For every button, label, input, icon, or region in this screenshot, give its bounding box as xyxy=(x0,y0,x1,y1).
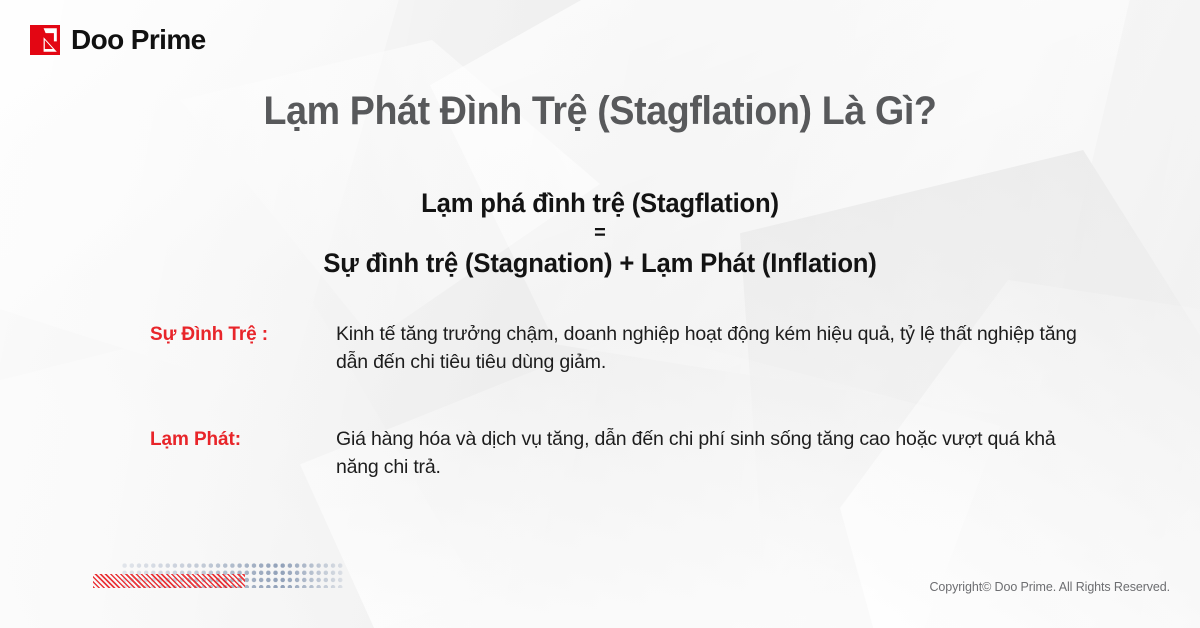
slide-canvas: Doo Prime Lạm Phát Đình Trệ (Stagflation… xyxy=(0,0,1200,628)
red-hatch-bar-decoration xyxy=(93,574,245,588)
definition-label: Lạm Phát: xyxy=(150,425,336,454)
definition-text: Kinh tế tăng trưởng chậm, doanh nghiệp h… xyxy=(336,320,1096,377)
page-title: Lạm Phát Đình Trệ (Stagflation) Là Gì? xyxy=(36,88,1164,134)
list-item: Lạm Phát: Giá hàng hóa và dịch vụ tăng, … xyxy=(150,425,1110,482)
definition-list: Sự Đình Trệ : Kinh tế tăng trưởng chậm, … xyxy=(150,320,1110,529)
definition-label: Sự Đình Trệ : xyxy=(150,320,336,349)
footer-copyright: Copyright© Doo Prime. All Rights Reserve… xyxy=(929,580,1170,594)
definition-text: Giá hàng hóa và dịch vụ tăng, dẫn đến ch… xyxy=(336,425,1096,482)
brand-wordmark: Doo Prime xyxy=(71,26,206,54)
doo-prime-square-arrow-icon xyxy=(30,25,60,55)
brand-logo[interactable]: Doo Prime xyxy=(30,25,206,55)
decorative-pattern xyxy=(93,562,343,596)
formula-line-2: Sự đình trệ (Stagnation) + Lạm Phát (Inf… xyxy=(30,246,1170,281)
list-item: Sự Đình Trệ : Kinh tế tăng trưởng chậm, … xyxy=(150,320,1110,377)
formula-line-1: Lạm phá đình trệ (Stagflation) xyxy=(30,186,1170,221)
formula-equals-operator: = xyxy=(0,221,1200,246)
formula-block: Lạm phá đình trệ (Stagflation) = Sự đình… xyxy=(0,186,1200,281)
